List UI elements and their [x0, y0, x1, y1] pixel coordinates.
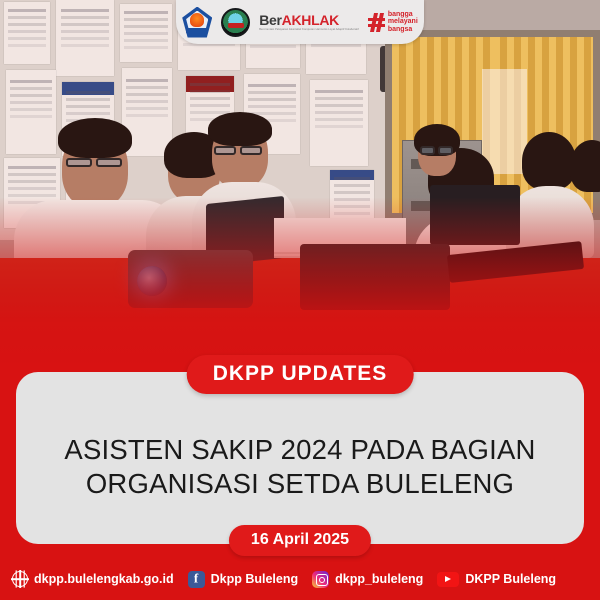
globe-icon: [12, 571, 28, 587]
bangga-line-2: melayani: [388, 18, 418, 25]
buleleng-regency-emblem-icon: [182, 7, 212, 38]
instagram-label: dkpp_buleleng: [335, 572, 423, 586]
bangga-line-3: bangsa: [388, 26, 418, 33]
instagram-icon: [312, 571, 329, 588]
berakhlak-wordmark: BerAKHLAK: [259, 13, 359, 27]
facebook-icon: [188, 571, 205, 588]
headline-line-2: ORGANISASI SETDA BULELENG: [64, 467, 535, 501]
headline-card: ASISTEN SAKIP 2024 PADA BAGIAN ORGANISAS…: [16, 372, 584, 544]
page-title: ASISTEN SAKIP 2024 PADA BAGIAN ORGANISAS…: [64, 433, 535, 500]
youtube-icon: [437, 572, 459, 587]
dkpp-updates-badge: DKPP UPDATES: [187, 355, 414, 394]
footer-item-facebook[interactable]: Dkpp Buleleng: [188, 571, 299, 588]
bangga-melayani-bangsa-logo: bangga melayani bangsa: [368, 11, 418, 33]
footer-item-website[interactable]: dkpp.bulelengkab.go.id: [12, 571, 174, 587]
footer-item-youtube[interactable]: DKPP Buleleng: [437, 572, 556, 587]
red-gradient-overlay: [0, 197, 600, 372]
event-photo: [0, 0, 600, 372]
emblem-figure: [190, 13, 204, 27]
poster-canvas: BerAKHLAK Berorientasi Pelayanan Akuntab…: [0, 0, 600, 600]
website-label: dkpp.bulelengkab.go.id: [34, 572, 174, 586]
berakhlak-accent: AKHLAK: [282, 12, 339, 28]
emblem-base-banner: [186, 28, 208, 34]
berakhlak-tagline: Berorientasi Pelayanan Akuntabel Kompete…: [259, 29, 359, 32]
youtube-label: DKPP Buleleng: [465, 572, 556, 586]
berakhlak-logo: BerAKHLAK Berorientasi Pelayanan Akuntab…: [259, 13, 359, 32]
bangga-wordmark: bangga melayani bangsa: [388, 11, 418, 33]
footer-item-instagram[interactable]: dkpp_buleleng: [312, 571, 423, 588]
headline-line-1: ASISTEN SAKIP 2024 PADA BAGIAN: [64, 433, 535, 467]
facebook-label: Dkpp Buleleng: [211, 572, 299, 586]
logo-bar: BerAKHLAK Berorientasi Pelayanan Akuntab…: [176, 0, 424, 44]
akhlak-circle-logo-icon: [221, 8, 250, 37]
social-footer: dkpp.bulelengkab.go.id Dkpp Buleleng dkp…: [0, 558, 600, 600]
bangga-line-1: bangga: [388, 11, 418, 18]
date-badge: 16 April 2025: [229, 525, 371, 556]
bangga-hash-icon: [368, 13, 385, 32]
